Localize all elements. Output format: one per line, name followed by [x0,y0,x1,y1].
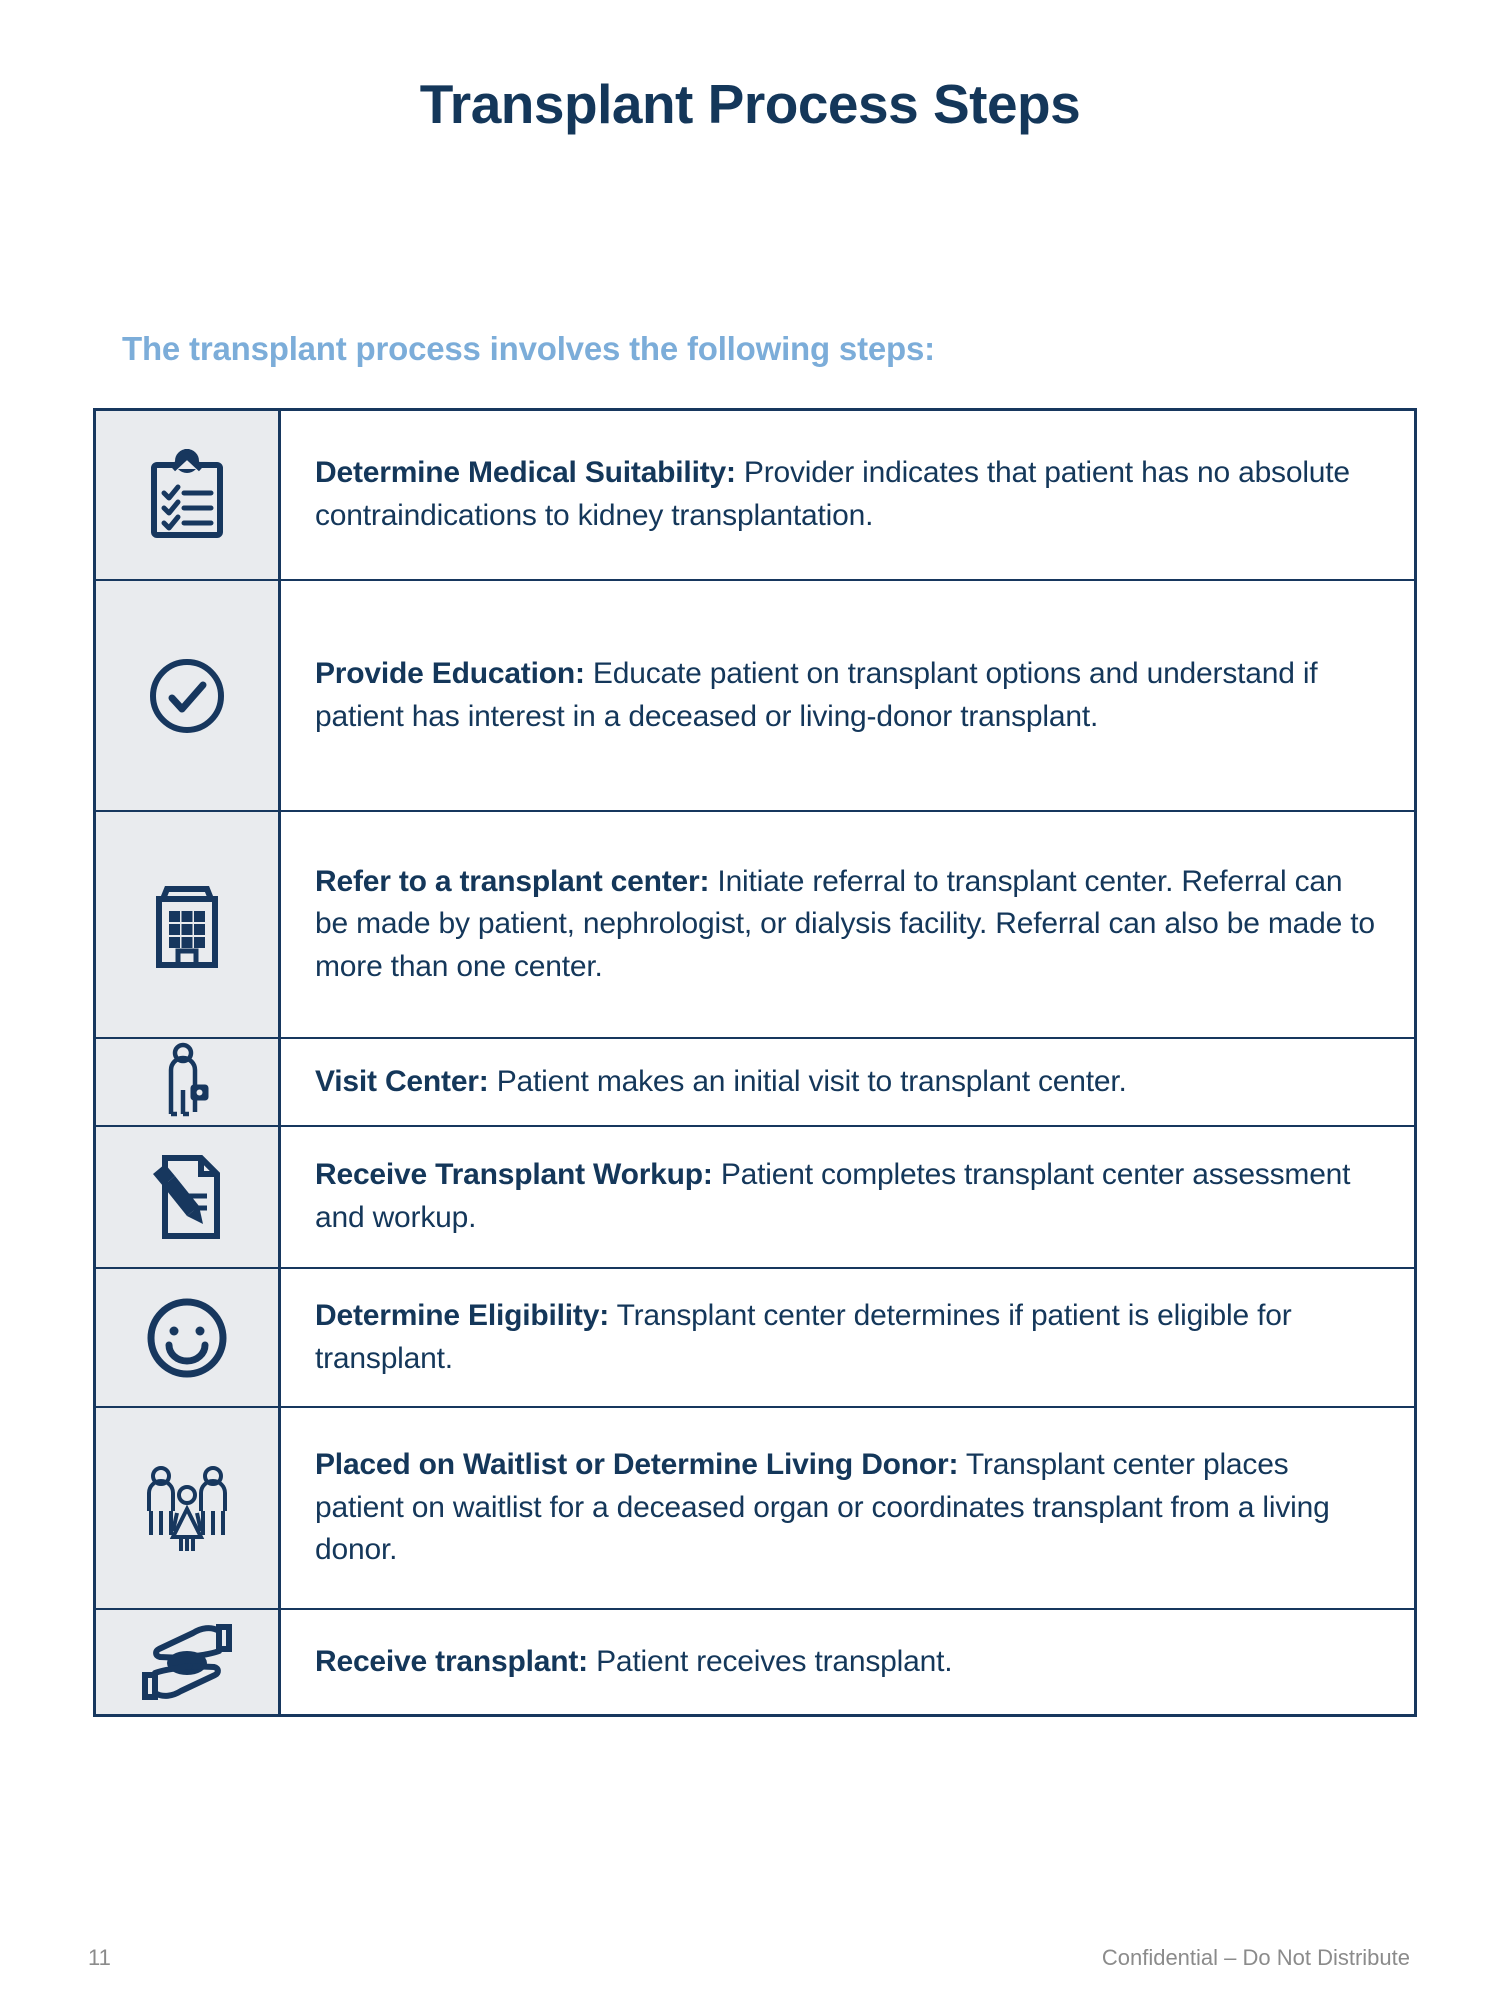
step-lead: Receive transplant: [315,1645,588,1678]
hands-holding-organ-icon [139,1623,235,1701]
slide-page: Transplant Process Steps The transplant … [0,0,1500,2000]
text-cell: Refer to a transplant center: Initiate r… [281,812,1414,1037]
step-description: Determine Medical Suitability: Provider … [315,452,1380,537]
transplant-steps-table: Determine Medical Suitability: Provider … [93,408,1417,1717]
text-cell: Visit Center: Patient makes an initial v… [281,1039,1414,1125]
text-cell: Receive Transplant Workup: Patient compl… [281,1127,1414,1267]
step-lead: Determine Eligibility: [315,1299,609,1332]
family-group-icon [137,1463,237,1553]
subtitle: The transplant process involves the foll… [122,330,935,368]
clipboard-checklist-icon [148,449,226,541]
table-row: Determine Eligibility: Transplant center… [96,1269,1414,1408]
step-description: Receive transplant: Patient receives tra… [315,1641,952,1684]
document-pencil-icon [145,1152,229,1242]
table-row: Determine Medical Suitability: Provider … [96,411,1414,581]
icon-cell [96,1269,281,1406]
footer-confidentiality-note: Confidential – Do Not Distribute [1102,1945,1410,1971]
table-row: Receive transplant: Patient receives tra… [96,1610,1414,1714]
step-description: Receive Transplant Workup: Patient compl… [315,1154,1380,1239]
icon-cell [96,1610,281,1714]
person-with-medical-bag-icon [158,1042,216,1122]
step-description: Provide Education: Educate patient on tr… [315,653,1380,738]
table-row: Visit Center: Patient makes an initial v… [96,1039,1414,1127]
step-description: Visit Center: Patient makes an initial v… [315,1061,1127,1104]
text-cell: Determine Eligibility: Transplant center… [281,1269,1414,1406]
icon-cell [96,581,281,810]
text-cell: Determine Medical Suitability: Provider … [281,411,1414,579]
table-row: Refer to a transplant center: Initiate r… [96,812,1414,1039]
step-lead: Determine Medical Suitability: [315,456,736,489]
hospital-building-icon [149,879,225,971]
step-lead: Receive Transplant Workup: [315,1158,713,1191]
step-lead: Placed on Waitlist or Determine Living D… [315,1448,958,1481]
check-circle-icon [144,653,230,739]
step-lead: Refer to a transplant center: [315,865,709,898]
step-body: Patient receives transplant. [588,1645,952,1678]
table-row: Placed on Waitlist or Determine Living D… [96,1408,1414,1610]
step-lead: Visit Center: [315,1065,489,1098]
step-body: Patient makes an initial visit to transp… [489,1065,1127,1098]
footer-page-number: 11 [88,1945,111,1971]
table-row: Provide Education: Educate patient on tr… [96,581,1414,812]
page-title: Transplant Process Steps [0,74,1500,135]
text-cell: Receive transplant: Patient receives tra… [281,1610,1414,1714]
icon-cell [96,812,281,1037]
icon-cell [96,1408,281,1608]
text-cell: Placed on Waitlist or Determine Living D… [281,1408,1414,1608]
step-description: Placed on Waitlist or Determine Living D… [315,1444,1380,1572]
icon-cell [96,1039,281,1125]
text-cell: Provide Education: Educate patient on tr… [281,581,1414,810]
table-row: Receive Transplant Workup: Patient compl… [96,1127,1414,1269]
step-lead: Provide Education: [315,657,585,690]
icon-cell [96,1127,281,1267]
smiley-face-icon [143,1294,231,1382]
step-description: Determine Eligibility: Transplant center… [315,1295,1380,1380]
step-description: Refer to a transplant center: Initiate r… [315,861,1380,989]
icon-cell [96,411,281,579]
